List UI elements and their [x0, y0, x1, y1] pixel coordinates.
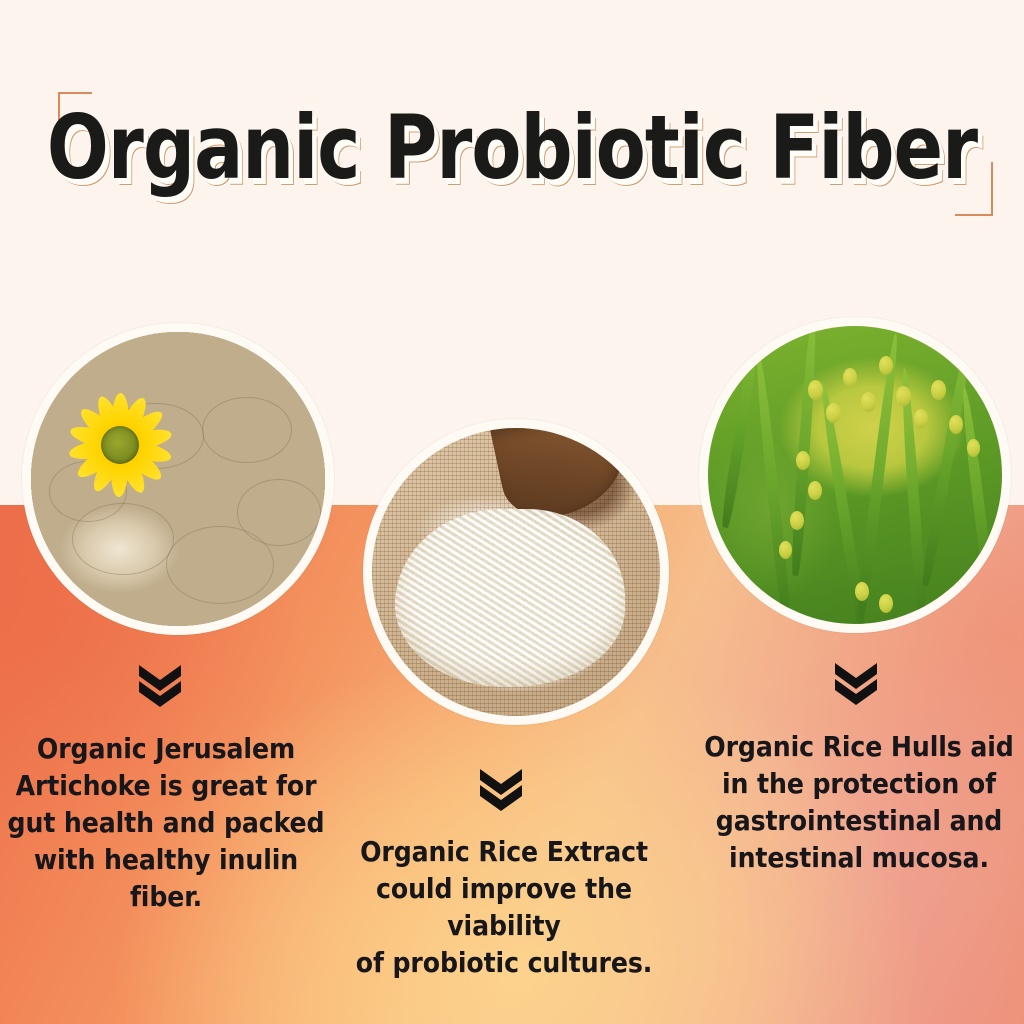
ingredient-image-jerusalem-artichoke: [22, 323, 334, 635]
artwork-rice-sack: [372, 428, 660, 716]
artwork-artichoke: [31, 332, 325, 626]
ingredient-caption-rice-extract: Organic Rice Extract could improve the v…: [339, 833, 669, 981]
image-clip-2: [372, 428, 660, 716]
ingredient-caption-rice-hulls: Organic Rice Hulls aid in the protection…: [700, 728, 1018, 876]
title-container: Organic Probiotic Fiber: [0, 96, 1024, 226]
double-chevron-down-icon: [137, 663, 183, 707]
ingredient-image-rice-hulls: [699, 317, 1011, 633]
sunflower-icon: [66, 391, 174, 499]
artwork-rice-paddy: [708, 326, 1002, 624]
poster-canvas: Organic Probiotic Fiber: [0, 0, 1024, 1024]
image-clip-3: [708, 326, 1002, 624]
ingredient-caption-jerusalem-artichoke: Organic Jerusalem Artichoke is great for…: [6, 730, 326, 915]
double-chevron-down-icon: [833, 661, 879, 705]
image-clip-1: [31, 332, 325, 626]
double-chevron-down-icon: [478, 767, 524, 811]
ingredient-image-rice-extract: [363, 419, 669, 725]
page-title: Organic Probiotic Fiber: [41, 96, 983, 200]
